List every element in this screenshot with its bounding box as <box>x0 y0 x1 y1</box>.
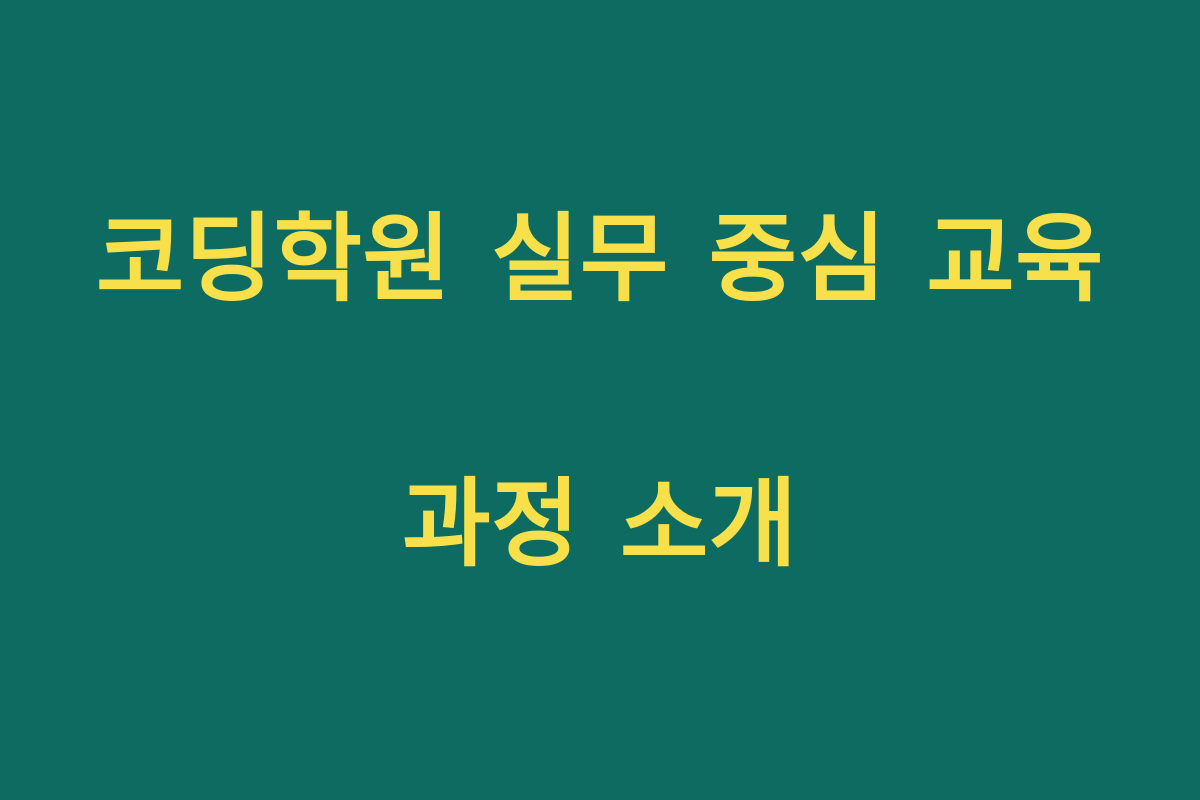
page-title-line-1: 코딩학원 실무 중심 교육 <box>96 193 1104 325</box>
page-title-line-2: 과정 소개 <box>96 458 1104 590</box>
page-title: 코딩학원 실무 중심 교육 과정 소개 <box>96 61 1104 723</box>
title-block: 코딩학원 실무 중심 교육 과정 소개 <box>50 61 1150 723</box>
title-banner: 코딩학원 실무 중심 교육 과정 소개 <box>0 0 1200 800</box>
